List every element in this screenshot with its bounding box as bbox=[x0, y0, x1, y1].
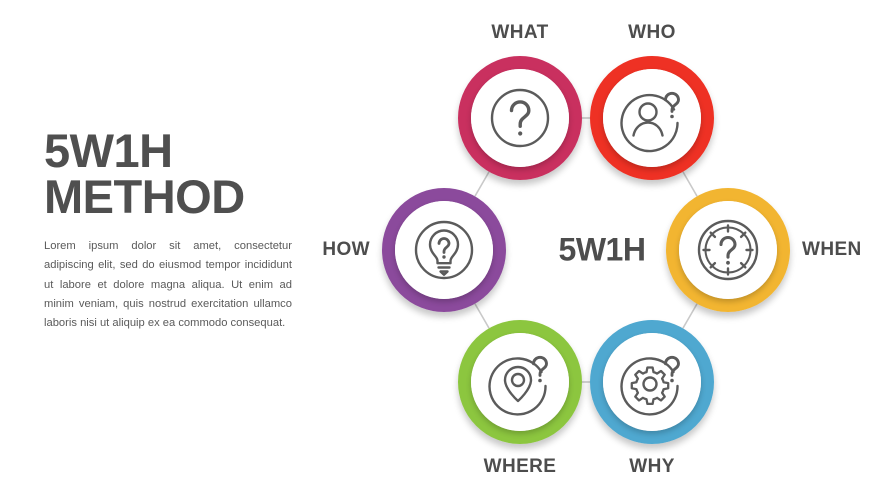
description-text: Lorem ipsum dolor sit amet, consectetur … bbox=[44, 237, 292, 333]
node-icon-disc bbox=[603, 69, 701, 167]
map-pin-question-icon bbox=[484, 346, 556, 418]
node-icon-disc bbox=[679, 201, 777, 299]
node-icon-disc bbox=[471, 69, 569, 167]
infographic-slide: 5W1HMETHOD Lorem ipsum dolor sit amet, c… bbox=[0, 0, 875, 500]
node-how[interactable] bbox=[382, 188, 506, 312]
node-label-why: WHY bbox=[629, 456, 675, 478]
node-icon-disc bbox=[395, 201, 493, 299]
page-title: 5W1HMETHOD bbox=[44, 128, 292, 220]
node-what[interactable] bbox=[458, 56, 582, 180]
node-where[interactable] bbox=[458, 320, 582, 444]
node-why[interactable] bbox=[590, 320, 714, 444]
node-label-who: WHO bbox=[628, 22, 676, 44]
question-mark-circle-icon bbox=[484, 82, 556, 154]
title-line-2: METHOD bbox=[44, 174, 292, 220]
node-label-what: WHAT bbox=[491, 22, 548, 44]
person-question-icon bbox=[616, 82, 688, 154]
left-text-panel: 5W1HMETHOD Lorem ipsum dolor sit amet, c… bbox=[44, 128, 292, 333]
title-line-1: 5W1H bbox=[44, 124, 173, 177]
gear-question-icon bbox=[616, 346, 688, 418]
node-label-when: WHEN bbox=[802, 239, 862, 261]
node-icon-disc bbox=[603, 333, 701, 431]
clock-question-icon bbox=[692, 214, 764, 286]
lightbulb-question-icon bbox=[408, 214, 480, 286]
node-icon-disc bbox=[471, 333, 569, 431]
center-label: 5W1H bbox=[559, 232, 646, 269]
node-when[interactable] bbox=[666, 188, 790, 312]
hexagon-diagram: 5W1H bbox=[330, 0, 875, 500]
node-label-how: HOW bbox=[322, 239, 370, 261]
node-label-where: WHERE bbox=[484, 456, 557, 478]
node-who[interactable] bbox=[590, 56, 714, 180]
